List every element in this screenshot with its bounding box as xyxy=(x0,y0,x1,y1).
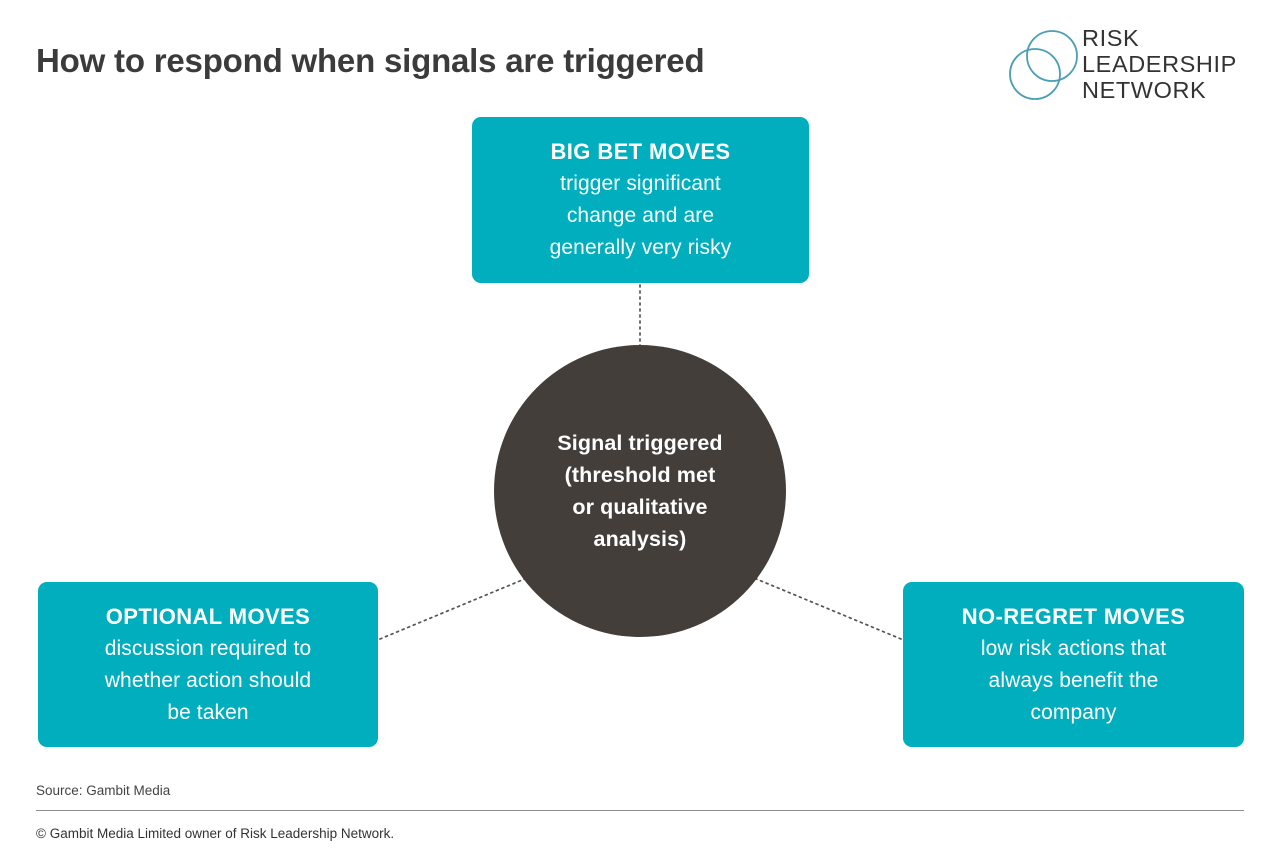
node-big-bet-moves-title: BIG BET MOVES xyxy=(551,136,731,168)
connector-center-to-no-regret xyxy=(754,578,901,639)
node-optional-moves-desc-line-2: whether action should xyxy=(105,665,311,697)
node-big-bet-moves-desc-line-1: trigger significant xyxy=(560,168,721,200)
node-no-regret-moves-desc-line-2: always benefit the xyxy=(989,665,1159,697)
center-node-text: Signal triggered (threshold met or quali… xyxy=(531,427,748,555)
center-node-line-3: or qualitative xyxy=(557,491,722,523)
node-no-regret-moves-desc-line-1: low risk actions that xyxy=(981,633,1166,665)
node-big-bet-moves[interactable]: BIG BET MOVES trigger significant change… xyxy=(472,117,809,283)
node-optional-moves-title: OPTIONAL MOVES xyxy=(106,601,310,633)
node-optional-moves-desc-line-1: discussion required to xyxy=(105,633,311,665)
copyright-note: © Gambit Media Limited owner of Risk Lea… xyxy=(36,826,394,841)
page-title: How to respond when signals are triggere… xyxy=(36,42,704,80)
node-big-bet-moves-desc-line-3: generally very risky xyxy=(550,232,732,264)
center-node-line-1: Signal triggered xyxy=(557,427,722,459)
two-overlapping-circles-icon xyxy=(1004,26,1084,106)
logo-line-risk: RISK xyxy=(1082,25,1237,51)
connector-center-to-optional xyxy=(380,578,527,639)
slide-canvas: How to respond when signals are triggere… xyxy=(0,0,1280,862)
node-no-regret-moves[interactable]: NO-REGRET MOVES low risk actions that al… xyxy=(903,582,1244,747)
node-optional-moves[interactable]: OPTIONAL MOVES discussion required to wh… xyxy=(38,582,378,747)
node-no-regret-moves-desc-line-3: company xyxy=(1031,697,1117,729)
node-big-bet-moves-desc-line-2: change and are xyxy=(567,200,714,232)
node-optional-moves-desc-line-3: be taken xyxy=(167,697,248,729)
brand-logo-text: RISK LEADERSHIP NETWORK xyxy=(1082,25,1237,103)
logo-line-leadership: LEADERSHIP xyxy=(1082,51,1237,77)
footer-divider xyxy=(36,810,1244,811)
source-note: Source: Gambit Media xyxy=(36,783,170,798)
node-no-regret-moves-title: NO-REGRET MOVES xyxy=(962,601,1186,633)
brand-logo: RISK LEADERSHIP NETWORK xyxy=(1004,24,1252,108)
logo-line-network: NETWORK xyxy=(1082,77,1237,103)
center-node-line-4: analysis) xyxy=(557,523,722,555)
center-node-signal-triggered[interactable]: Signal triggered (threshold met or quali… xyxy=(494,345,786,637)
center-node-line-2: (threshold met xyxy=(557,459,722,491)
